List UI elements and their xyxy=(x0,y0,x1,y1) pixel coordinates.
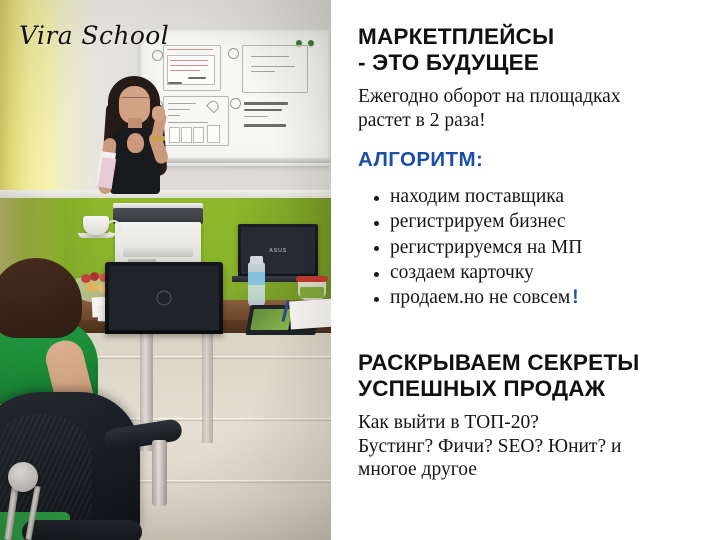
avito-logo-icon xyxy=(612,496,708,526)
body-marketplaces-line1: Ежегодно оборот на площадках xyxy=(358,86,621,107)
body-secrets-line1: Как выйти в ТОП-20? xyxy=(358,412,539,433)
body-secrets-line2: Бустинг? Фичи? SEO? Юнит? и xyxy=(358,436,621,457)
list-item-label: регистрируем бизнес xyxy=(390,211,566,232)
body-marketplaces-line2: растет в 2 раза! xyxy=(358,110,486,131)
list-item-label: создаем карточку xyxy=(390,262,534,283)
list-item: продаем.но не совсем! xyxy=(358,285,582,311)
block-algorithm: АЛГОРИТМ: находим поставщика регистрируе… xyxy=(358,148,582,311)
list-item: находим поставщика xyxy=(358,184,582,209)
list-item-label: регистрируемся на МП xyxy=(390,237,582,258)
avito-watermark xyxy=(612,496,708,526)
heading-algorithm: АЛГОРИТМ: xyxy=(358,148,582,172)
list-item: регистрируемся на МП xyxy=(358,235,582,260)
heading-marketplaces-line1: МАРКЕТПЛЕЙСЫ xyxy=(358,24,554,49)
heading-marketplaces: МАРКЕТПЛЕЙСЫ - ЭТО БУДУЩЕЕ xyxy=(358,24,621,76)
block-marketplaces: МАРКЕТПЛЕЙСЫ - ЭТО БУДУЩЕЕ Ежегодно обор… xyxy=(358,24,621,132)
list-item: регистрируем бизнес xyxy=(358,209,582,234)
promo-slide: ASUS xyxy=(0,0,720,540)
text-panel: МАРКЕТПЛЕЙСЫ - ЭТО БУДУЩЕЕ Ежегодно обор… xyxy=(331,0,720,540)
algorithm-list: находим поставщика регистрируем бизнес р… xyxy=(358,184,582,311)
heading-secrets-line2: УСПЕШНЫХ ПРОДАЖ xyxy=(358,376,640,402)
body-secrets: Как выйти в ТОП-20? Бустинг? Фичи? SEO? … xyxy=(358,411,640,481)
exclamation-mark: ! xyxy=(570,287,578,308)
block-secrets: РАСКРЫВАЕМ СЕКРЕТЫ УСПЕШНЫХ ПРОДАЖ Как в… xyxy=(358,350,640,481)
body-marketplaces: Ежегодно оборот на площадках растет в 2 … xyxy=(358,85,621,132)
body-secrets-line3: многое другое xyxy=(358,459,477,480)
photo-vignette xyxy=(0,0,331,540)
heading-secrets-line1: РАСКРЫВАЕМ СЕКРЕТЫ xyxy=(358,350,640,375)
list-item-label: продаем.но не совсем xyxy=(390,287,570,308)
classroom-photo: ASUS xyxy=(0,0,331,540)
list-item-label: находим поставщика xyxy=(390,186,564,207)
list-item: создаем карточку xyxy=(358,260,582,285)
vira-school-logo: Vira School xyxy=(19,21,169,50)
heading-secrets: РАСКРЫВАЕМ СЕКРЕТЫ УСПЕШНЫХ ПРОДАЖ xyxy=(358,350,640,402)
heading-marketplaces-line2: - ЭТО БУДУЩЕЕ xyxy=(358,50,621,76)
